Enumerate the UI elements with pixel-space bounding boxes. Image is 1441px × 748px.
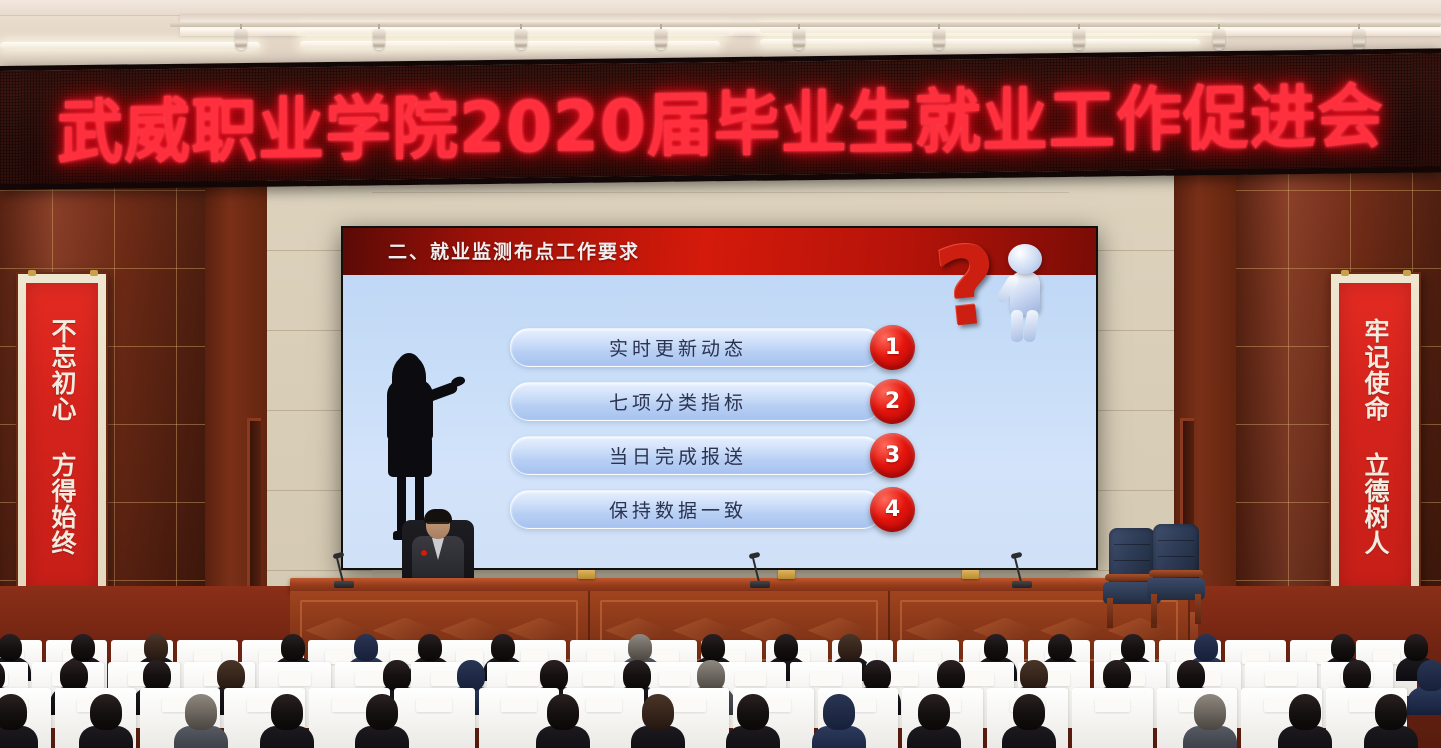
slide-title: 二、就业监测布点工作要求 xyxy=(388,237,640,264)
attendee-head xyxy=(774,634,798,661)
slide-bullet-label: 当日完成报送 xyxy=(609,442,783,469)
vertical-banner-left: 不忘初心 方得始终 xyxy=(16,272,108,602)
attendee-head xyxy=(0,694,27,730)
attendee-head xyxy=(701,634,725,661)
attendee-head xyxy=(457,660,485,691)
attendee-head xyxy=(271,694,303,730)
banner-hook-icon xyxy=(90,270,98,276)
microphone-icon xyxy=(1020,550,1023,588)
spotlight-icon xyxy=(1353,24,1365,50)
lighting-track-rail xyxy=(170,22,1441,27)
attendee-head xyxy=(418,634,442,661)
chair-leg xyxy=(1107,598,1113,628)
banner-hook-icon xyxy=(1403,270,1411,276)
chair-arm xyxy=(1149,570,1203,577)
spotlight-icon xyxy=(793,24,805,50)
spotlight-icon xyxy=(373,24,385,50)
attendee-head xyxy=(1343,660,1371,691)
slide-bullet-number-badge: 3 xyxy=(870,433,915,478)
name-plate xyxy=(962,570,979,579)
head-table-top xyxy=(290,578,1190,592)
attendee-head xyxy=(1194,694,1226,730)
chair-leg xyxy=(1151,594,1157,624)
spotlight-icon xyxy=(933,24,945,50)
speaker-lapel-pin xyxy=(421,550,427,556)
silhouette-skirt xyxy=(388,437,432,477)
attendee-head xyxy=(1404,634,1428,661)
chair-leg xyxy=(1195,594,1201,624)
attendee-head xyxy=(984,634,1008,661)
slide-bullet-row: 当日完成报送3 xyxy=(510,436,915,475)
attendee-head xyxy=(1417,660,1441,691)
attendee-head xyxy=(60,660,88,691)
speaker-hair xyxy=(424,509,452,523)
question-mark-icon: ? xyxy=(931,231,1005,345)
attendee-head xyxy=(1048,634,1072,661)
attendee-head xyxy=(491,634,515,661)
led-banner-text: 武威职业学院2020届毕业生就业工作促进会 xyxy=(57,60,1384,178)
attendee-head xyxy=(547,694,579,730)
slide-bullet-number-badge: 4 xyxy=(870,487,915,532)
seated-speaker xyxy=(402,508,474,586)
attendee-head xyxy=(1375,694,1407,730)
attendee-head xyxy=(1289,694,1321,730)
spotlight-icon xyxy=(515,24,527,50)
slide-bullet-pill: 当日完成报送 xyxy=(510,436,882,475)
attendee-head xyxy=(143,660,171,691)
silhouette-head xyxy=(397,353,421,381)
banner-hook-icon xyxy=(28,270,36,276)
name-plate xyxy=(578,570,595,579)
spotlight-icon xyxy=(1073,24,1085,50)
attendee-head xyxy=(1177,660,1205,691)
side-chair-group xyxy=(1103,524,1228,634)
microphone-icon xyxy=(758,550,761,588)
slide-bullet-label: 七项分类指标 xyxy=(609,388,783,415)
banner-hook-icon xyxy=(1341,270,1349,276)
silhouette-hand xyxy=(450,374,466,388)
slide-bullet-number-badge: 2 xyxy=(870,379,915,424)
ceiling-light-strip xyxy=(760,26,1220,33)
attendee-head xyxy=(281,634,305,661)
figure-head xyxy=(1008,244,1042,274)
figure-leg xyxy=(1011,310,1023,342)
attendee-head xyxy=(697,660,725,691)
attendee-head xyxy=(918,694,950,730)
attendee-head xyxy=(366,694,398,730)
slide-bullet-row: 保持数据一致4 xyxy=(510,490,915,529)
slide-bullet-pill: 实时更新动态 xyxy=(510,328,882,367)
vertical-banner-left-text: 不忘初心 方得始终 xyxy=(48,318,76,556)
attendee-head xyxy=(71,634,95,661)
vertical-banner-left-field: 不忘初心 方得始终 xyxy=(26,283,98,591)
name-plate xyxy=(778,570,795,579)
attendee-head xyxy=(642,694,674,730)
question-mark-graphic: ? xyxy=(922,230,1082,350)
microphone-icon xyxy=(342,550,345,588)
slide-bullet-label: 保持数据一致 xyxy=(609,496,783,523)
slide-bullet-row: 实时更新动态1 xyxy=(510,328,915,367)
attendee-head xyxy=(737,694,769,730)
attendee-head xyxy=(90,694,122,730)
spotlight-icon xyxy=(655,24,667,50)
attendee-head xyxy=(354,634,378,661)
conference-hall-photo: 武威职业学院2020届毕业生就业工作促进会 不忘初心 方得始终 牢记使命 立德树… xyxy=(0,0,1441,748)
attendee-head xyxy=(144,634,168,661)
attendee-head xyxy=(0,634,22,661)
led-banner: 武威职业学院2020届毕业生就业工作促进会 xyxy=(0,48,1441,190)
ceiling-light-strip xyxy=(0,42,260,49)
side-chair xyxy=(1147,524,1207,620)
attendee-head xyxy=(540,660,568,691)
slide-bullet-label: 实时更新动态 xyxy=(609,334,783,361)
slide-bullet-pill: 七项分类指标 xyxy=(510,382,882,421)
attendee-head xyxy=(185,694,217,730)
attendee-head xyxy=(937,660,965,691)
attendee-shoulders xyxy=(1407,687,1441,715)
vertical-banner-right-field: 牢记使命 立德树人 xyxy=(1339,283,1411,591)
attendee-head xyxy=(863,660,891,691)
vertical-banner-right: 牢记使命 立德树人 xyxy=(1329,272,1421,602)
attendee-head xyxy=(628,634,652,661)
spotlight-icon xyxy=(1213,24,1225,50)
spotlight-icon xyxy=(235,24,247,50)
thinking-person-icon xyxy=(996,244,1062,344)
attendee-head xyxy=(1020,660,1048,691)
attendee-head xyxy=(1121,634,1145,661)
attendee-head xyxy=(1013,694,1045,730)
vertical-banner-right-text: 牢记使命 立德树人 xyxy=(1361,318,1389,556)
attendee-head xyxy=(823,694,855,730)
attendee-head xyxy=(1194,634,1218,661)
attendee-head xyxy=(1103,660,1131,691)
slide-bullet-row: 七项分类指标2 xyxy=(510,382,915,421)
attendee-head xyxy=(838,634,862,661)
speaker-glasses-icon xyxy=(427,522,449,527)
slide-bullet-number-badge: 1 xyxy=(870,325,915,370)
attendee-head xyxy=(623,660,651,691)
attendee-head xyxy=(1331,634,1355,661)
ceiling-light-strip xyxy=(760,39,1200,46)
audience-seating xyxy=(0,636,1441,748)
slide-bullet-list: 实时更新动态1七项分类指标2当日完成报送3保持数据一致4 xyxy=(510,328,915,544)
slide-bullet-pill: 保持数据一致 xyxy=(510,490,882,529)
attendee-head xyxy=(383,660,411,691)
attendee-head xyxy=(217,660,245,691)
audience-chair xyxy=(1072,688,1153,748)
